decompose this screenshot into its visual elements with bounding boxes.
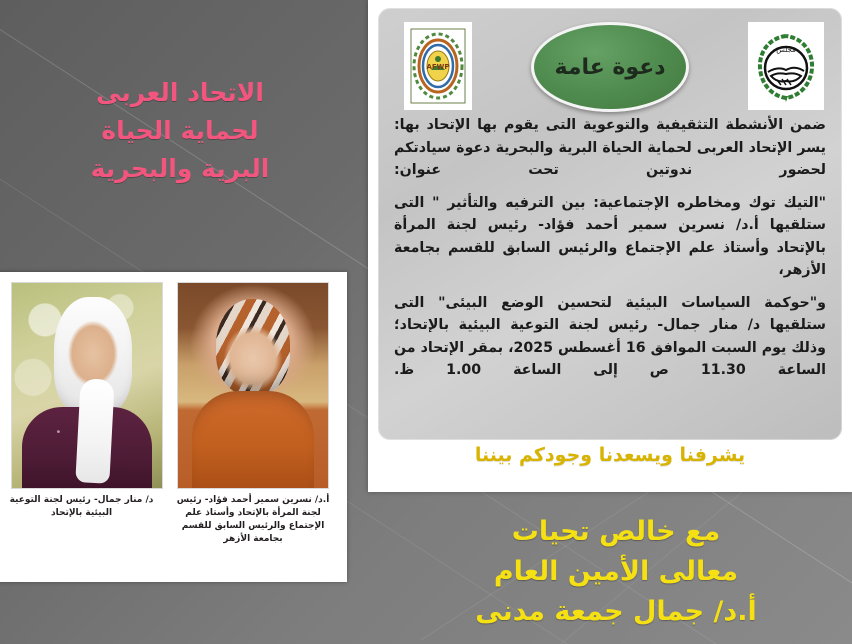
public-invitation-banner: دعوة عامة <box>531 22 689 112</box>
speaker-caption-nesreen-samir: أ.د/ نسرين سمير أحمد فؤاد- رئيس لجنة الم… <box>172 494 334 546</box>
greeting-line-2: معالى الأمين العام <box>380 552 852 592</box>
svg-text:مجلس: مجلس <box>776 46 796 54</box>
invitation-header: AFWP دعوة عامة مجلس <box>378 8 842 112</box>
organization-title-line-3: البرية والبحرية <box>20 150 340 188</box>
speakers-photo-row <box>2 282 337 487</box>
invitation-panel: AFWP دعوة عامة مجلس <box>378 8 842 440</box>
greeting-line-1: مع خالص تحيات <box>380 512 852 552</box>
arab-federation-wildlife-protection-emblem: AFWP <box>407 26 469 106</box>
organization-title-line-2: لحماية الحياة <box>20 112 340 150</box>
greeting-line-3: أ.د/ جمال جمعة مدنى <box>380 592 852 632</box>
organization-title: الاتحاد العربى لحماية الحياة البرية والب… <box>20 74 340 188</box>
greeting-block: مع خالص تحيات معالى الأمين العام أ.د/ جم… <box>380 512 852 632</box>
speakers-photo-card: د/ منار جمال- رئيس لجنة التوعية البيئية … <box>0 272 347 582</box>
photo-detail-scarf <box>75 378 114 484</box>
speaker-caption-manar-gamal: د/ منار جمال- رئيس لجنة التوعية البيئية … <box>4 494 159 520</box>
invitation-paragraph-intro: ضمن الأنشطة التثقيفية والتوعوية التى يقو… <box>394 114 826 182</box>
invitation-paragraph-session-2: و"حوكمة السياسات البيئية لتحسين الوضع ال… <box>394 292 826 382</box>
invitation-body: ضمن الأنشطة التثقيفية والتوعوية التى يقو… <box>378 112 842 382</box>
speaker-photo-manar-gamal <box>177 282 329 489</box>
logo-box-left: AFWP <box>404 22 472 110</box>
svg-text:AFWP: AFWP <box>426 63 449 71</box>
organization-title-line-1: الاتحاد العربى <box>20 74 340 112</box>
invitation-paragraph-session-1: "التيك توك ومخاطره الإجتماعية: بين الترف… <box>394 192 826 282</box>
invitation-card: AFWP دعوة عامة مجلس <box>368 0 852 492</box>
invitation-slide: الاتحاد العربى لحماية الحياة البرية والب… <box>0 0 852 644</box>
council-of-arab-economic-unity-emblem: مجلس <box>751 26 821 106</box>
public-invitation-banner-label: دعوة عامة <box>555 55 666 80</box>
speaker-photo-nesreen-samir <box>11 282 163 489</box>
logo-box-right: مجلس <box>748 22 824 110</box>
invitation-closing-line: يشرفنا ويسعدنا وجودكم بيننا <box>368 444 852 466</box>
